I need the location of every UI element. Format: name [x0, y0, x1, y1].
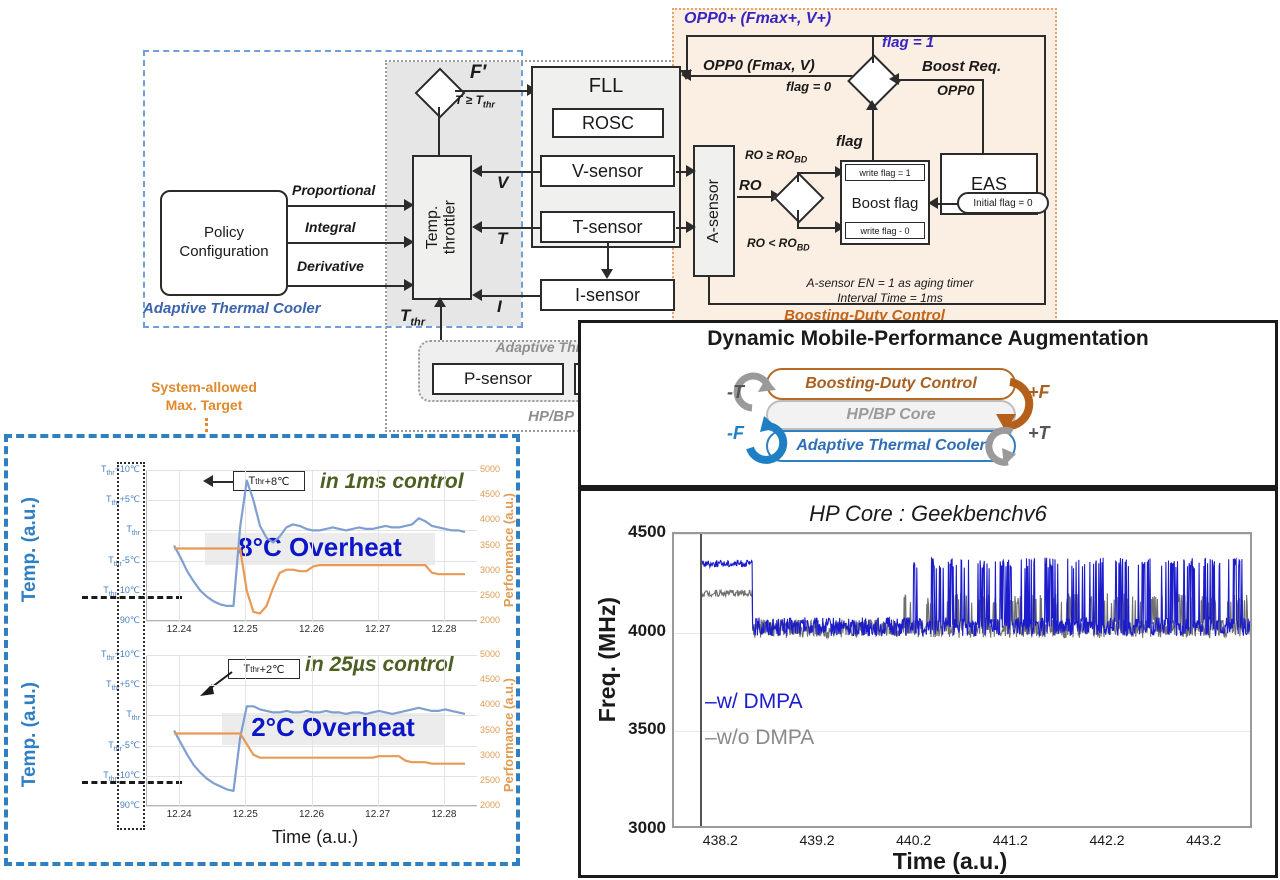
i-signal-arrow-head — [472, 289, 482, 301]
ro-lt-down-line — [797, 210, 799, 227]
y2-tick-label: 4000 — [480, 699, 500, 709]
interval-time-note: Interval Time = 1ms — [740, 290, 1040, 306]
boost-flag-label: Boost flag — [840, 192, 930, 214]
freq-chart-title: HP Core : Geekbenchv6 — [578, 500, 1278, 528]
legend-1-label: w/o DMPA — [717, 726, 815, 749]
opp0-output-line — [690, 75, 870, 77]
write-flag-0-box[interactable]: write flag - 0 — [845, 222, 925, 239]
tthr-arrow-head — [434, 297, 446, 307]
opp0-plus-label: OPP0+ (Fmax+, V+) — [672, 8, 972, 30]
temp-charts-xlabel: Time (a.u.) — [200, 826, 430, 848]
boost-req-label: Boost Req. — [922, 58, 1001, 75]
x-tick-label: 12.25 — [227, 624, 263, 635]
temp-chart-2-ticks-x: 12.2412.2512.2612.2712.28 — [146, 807, 486, 825]
vsensor-to-asensor-arrow-head — [686, 165, 696, 177]
flag-eq-1-label: flag = 1 — [882, 34, 934, 51]
t-sensor-box[interactable]: T-sensor — [540, 211, 675, 243]
i-sensor-box[interactable]: I-sensor — [540, 279, 675, 311]
freq-chart-xlabel: Time (a.u.) — [820, 848, 1080, 874]
dmpa-title: Dynamic Mobile-Performance Augmentation — [578, 325, 1278, 353]
system-allowed-annotation: System-allowed Max. Target — [124, 378, 284, 414]
ro-ge-main: RO ≥ RO — [745, 148, 794, 162]
freq-plot-start-edge — [700, 534, 702, 826]
axis-break-region — [117, 462, 145, 830]
opp0-output-arrow-head — [681, 69, 691, 81]
dmpa-minus-t-label: -T — [727, 382, 744, 403]
ro-lt-line — [797, 227, 839, 229]
x-tick-label: 12.28 — [426, 809, 462, 820]
temp-chart-2-ylabel: Temp. (a.u.) — [16, 655, 44, 815]
v-signal-label: V — [497, 173, 508, 193]
system-allowed-line2: Max. Target — [166, 397, 243, 413]
v-signal-arrow-head — [472, 165, 482, 177]
ro-ge-label: RO ≥ ROBD — [745, 148, 807, 164]
legend-0-prefix: – — [705, 690, 717, 713]
ro-ge-line — [797, 172, 839, 174]
boost-req-line — [898, 79, 984, 81]
temp-chart-1-ticks-x: 12.2412.2512.2612.2712.28 — [146, 622, 486, 640]
i-signal-line — [481, 295, 541, 297]
gridline — [146, 621, 477, 622]
x-tick-label: 12.25 — [227, 809, 263, 820]
y2-tick-label: 4000 — [480, 514, 500, 524]
freq-chart-yticks: 4500400035003000 — [614, 520, 670, 840]
tsensor-to-asensor-arrow-head — [686, 221, 696, 233]
boost-req-opp0-label: OPP0 — [937, 82, 974, 98]
x-tick-label: 443.2 — [1174, 832, 1234, 848]
dmpa-loop-arrows — [720, 360, 1050, 472]
t-ge-tthr-sub: thr — [483, 99, 495, 109]
ro-lt-label: RO < ROBD — [747, 236, 810, 252]
policy-configuration-box[interactable]: Policy Configuration — [160, 190, 288, 296]
tsensor-to-isensor-line — [607, 243, 609, 271]
temp-chart-2-ticks-right: 5000450040003500300025002000 — [478, 647, 518, 817]
adaptive-thermal-cooler-label: Adaptive Thermal Cooler — [143, 300, 378, 317]
temp-chart-1-ticks-right: 5000450040003500300025002000 — [478, 462, 518, 632]
boost-req-arrow-head — [889, 73, 899, 85]
tsensor-to-isensor-arrow-head — [601, 269, 613, 279]
tthr-main: T — [400, 306, 410, 325]
t-ge-tthr-label: T ≥ Tthr — [455, 93, 495, 109]
integral-arrow-line — [288, 242, 406, 244]
freq-chart-legend: –w/ DMPA –w/o DMPA — [705, 690, 935, 750]
y-tick-label: 4500 — [628, 522, 666, 542]
proportional-arrow-line — [288, 205, 406, 207]
a-sensor-box[interactable]: A-sensor — [693, 145, 735, 277]
x-tick-label: 12.27 — [360, 809, 396, 820]
a-sensor-label: A-sensor — [705, 179, 723, 243]
ro-ge-sub: BD — [794, 154, 807, 164]
rosc-box[interactable]: ROSC — [552, 108, 664, 138]
ro-lt-sub: BD — [797, 242, 810, 252]
x-tick-label: 12.24 — [161, 809, 197, 820]
diamond-to-throttler-line — [438, 107, 440, 155]
initial-flag-line — [937, 203, 959, 205]
x-tick-label: 12.27 — [360, 624, 396, 635]
v-sensor-box[interactable]: V-sensor — [540, 155, 675, 187]
opp0plus-top-line — [686, 35, 1046, 37]
initial-flag-arrow-head — [928, 197, 938, 209]
y2-tick-label: 5000 — [480, 464, 500, 474]
t-signal-line — [481, 227, 541, 229]
write-flag-1-box[interactable]: write flag = 1 — [845, 164, 925, 181]
y2-tick-label: 3500 — [480, 540, 500, 550]
y2-tick-label: 2500 — [480, 590, 500, 600]
tthr-sub: thr — [410, 316, 425, 328]
x-tick-label: 12.28 — [426, 624, 462, 635]
initial-flag-pill[interactable]: Initial flag = 0 — [957, 192, 1049, 214]
flag-label: flag — [836, 133, 863, 150]
fll-label: FLL — [531, 72, 681, 100]
temp-series-svg — [146, 655, 477, 806]
derivative-label: Derivative — [297, 258, 364, 274]
t-signal-label: T — [497, 229, 507, 249]
gridline — [146, 806, 477, 807]
i-signal-label: I — [497, 297, 502, 317]
dmpa-minus-f-label: -F — [727, 423, 744, 444]
p-sensor-box[interactable]: P-sensor — [432, 363, 564, 395]
ro-lt-main: RO < RO — [747, 236, 797, 250]
v-signal-line — [481, 171, 541, 173]
y2-tick-label: 3500 — [480, 725, 500, 735]
temp-throttler-line1: Temp. — [424, 206, 441, 250]
y-tick-label: 3500 — [628, 719, 666, 739]
y2-tick-label: 5000 — [480, 649, 500, 659]
y2-tick-label: 4500 — [480, 489, 500, 499]
f-prime-line — [455, 90, 531, 92]
flag-eq-0-label: flag = 0 — [786, 79, 831, 94]
legend-0-label: w/ DMPA — [717, 690, 803, 713]
temp-throttler-line2: throttler — [442, 200, 459, 254]
y-tick-label: 4000 — [628, 621, 666, 641]
x-tick-label: 12.26 — [294, 809, 330, 820]
y2-tick-label: 4500 — [480, 674, 500, 684]
freq-chart-plot — [672, 532, 1252, 828]
y2-tick-label: 2500 — [480, 775, 500, 785]
ro-label: RO — [739, 177, 762, 194]
f-prime-label: F′ — [470, 62, 486, 84]
t-ge-tthr-main: T ≥ T — [455, 93, 483, 107]
integral-label: Integral — [305, 219, 356, 235]
y2-tick-label: 3000 — [480, 750, 500, 760]
dmpa-plus-f-label: +F — [1028, 382, 1050, 403]
freq-series-svg — [674, 534, 1252, 828]
policy-configuration-line1: Policy — [204, 224, 244, 243]
t-signal-arrow-head — [472, 221, 482, 233]
policy-configuration-line2: Configuration — [179, 243, 268, 262]
aging-timer-note: A-sensor EN = 1 as aging timer — [740, 275, 1040, 291]
temp-throttler-box[interactable]: Temp. throttler — [412, 155, 472, 300]
system-allowed-line1: System-allowed — [151, 379, 257, 395]
legend-1-prefix: – — [705, 726, 717, 749]
x-tick-label: 12.24 — [161, 624, 197, 635]
x-tick-label: 440.2 — [884, 832, 944, 848]
x-tick-label: 439.2 — [787, 832, 847, 848]
x-tick-label: 441.2 — [980, 832, 1040, 848]
temp-chart-1-ylabel: Temp. (a.u.) — [16, 470, 44, 630]
flag1-up-line — [872, 35, 874, 63]
opp0-label: OPP0 (Fmax, V) — [703, 57, 815, 74]
x-tick-label: 12.26 — [294, 624, 330, 635]
dmpa-plus-t-label: +T — [1028, 423, 1050, 444]
y2-tick-label: 3000 — [480, 565, 500, 575]
tthr-label: Tthr — [400, 306, 425, 328]
eas-to-boostreq-line — [982, 79, 984, 154]
temp-series-svg — [146, 470, 477, 621]
flag-up-arrow-head — [866, 100, 878, 110]
proportional-label: Proportional — [292, 182, 375, 198]
ro-line — [737, 196, 775, 198]
opp0plus-right-line — [1044, 35, 1046, 305]
derivative-arrow-line — [288, 285, 406, 287]
x-tick-label: 438.2 — [690, 832, 750, 848]
x-tick-label: 442.2 — [1077, 832, 1137, 848]
